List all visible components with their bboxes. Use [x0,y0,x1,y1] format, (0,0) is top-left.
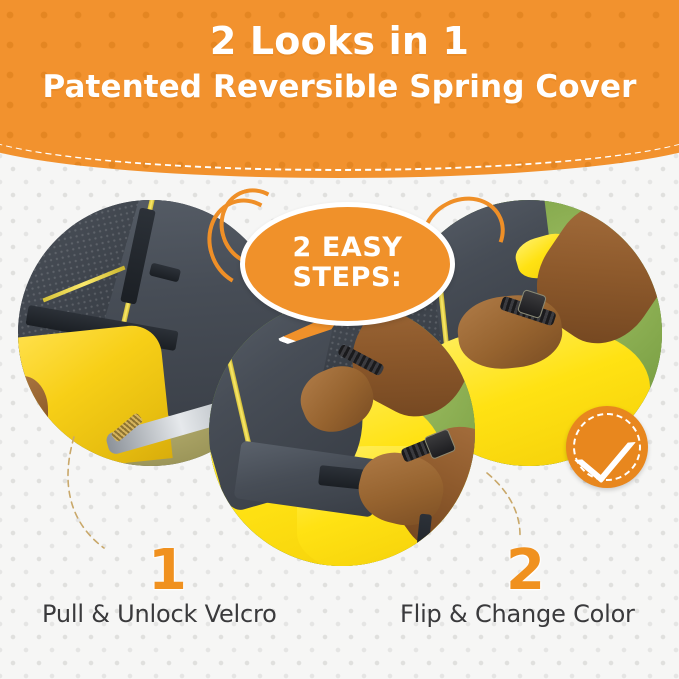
steps-callout-bubble: 2 EASY STEPS: [240,196,455,356]
infographic-page: 2 Looks in 1 Patented Reversible Spring … [0,0,679,679]
step-caption-2: Flip & Change Color [400,600,635,628]
step-number-1: 1 [148,543,187,599]
step-number-2: 2 [506,543,545,599]
check-badge [566,406,648,488]
step-caption-1: Pull & Unlock Velcro [42,600,277,628]
bubble-line-2: STEPS: [245,263,450,293]
bubble-body: 2 EASY STEPS: [240,202,455,326]
bubble-line-1: 2 EASY [245,233,450,263]
bubble-text-block: 2 EASY STEPS: [245,233,450,293]
